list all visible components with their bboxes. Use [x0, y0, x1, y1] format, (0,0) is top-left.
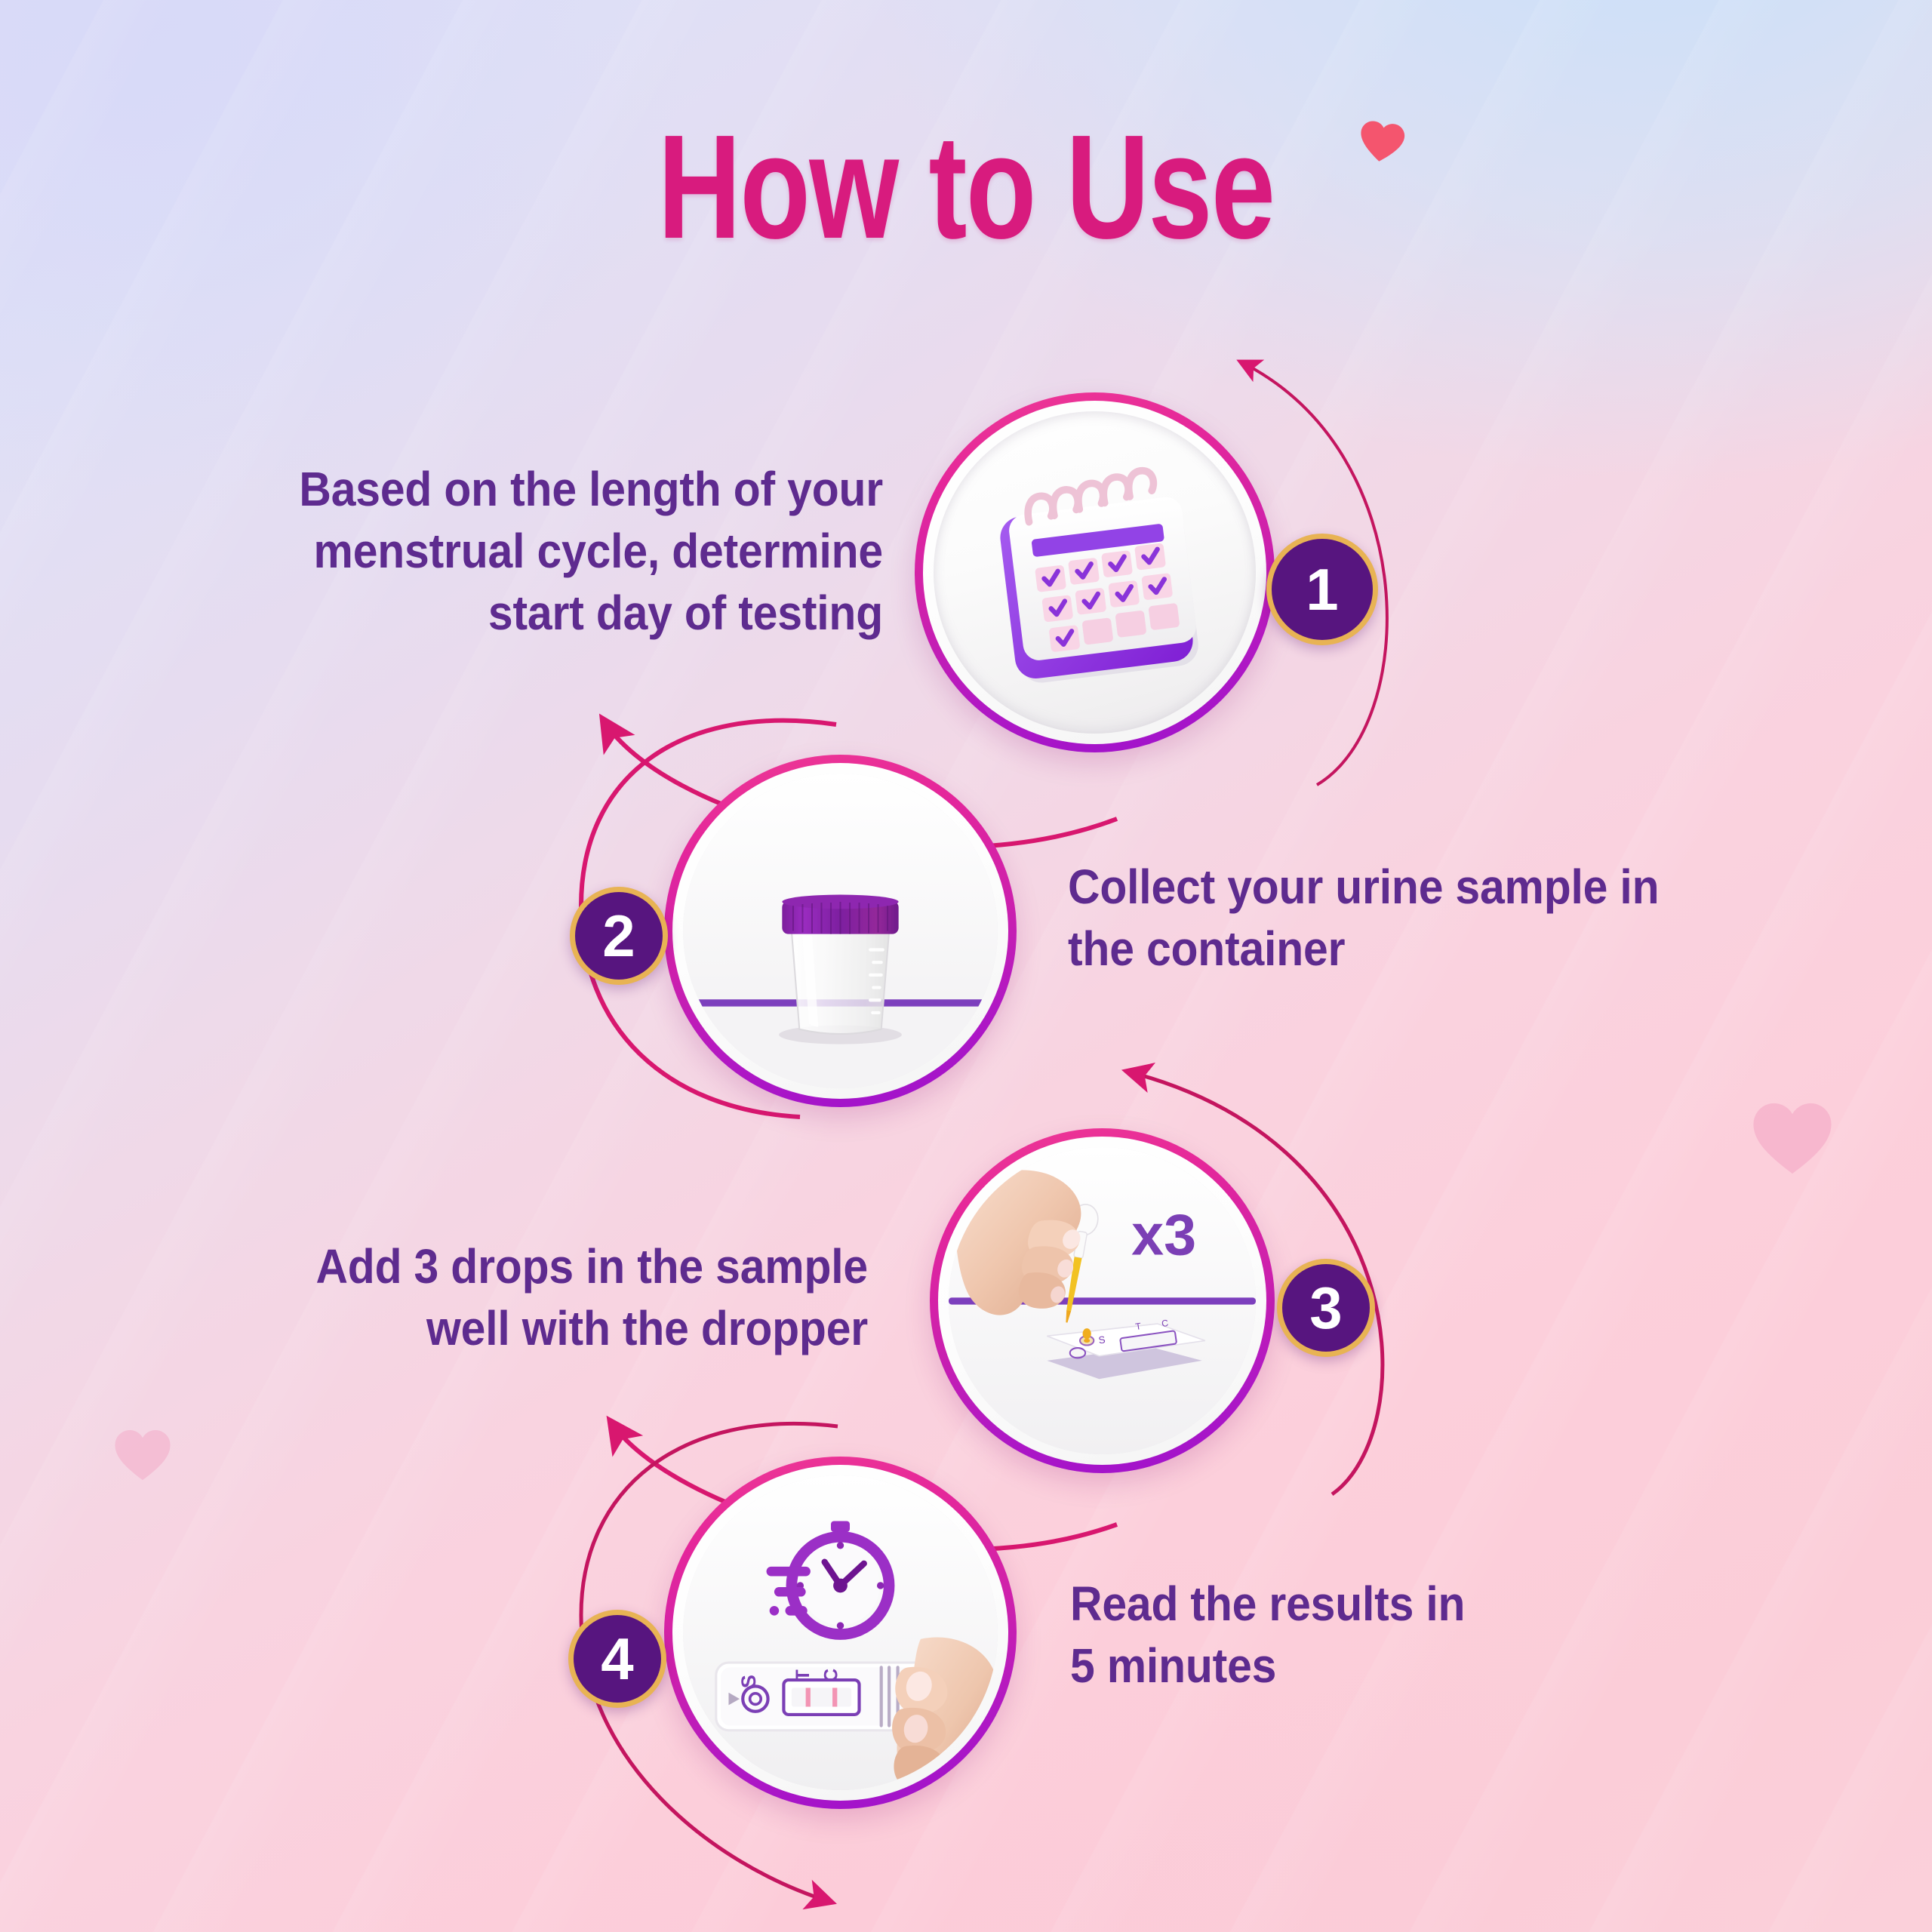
cassette-label-c: C — [820, 1669, 841, 1682]
page-title: How to Use — [213, 113, 1720, 261]
step-3-badge: 3 — [1277, 1259, 1375, 1357]
step-2-circle — [664, 755, 1017, 1107]
step-2-number: 2 — [602, 906, 635, 965]
step-1-number: 1 — [1306, 560, 1338, 619]
step-1-text: Based on the length of your menstrual cy… — [128, 459, 883, 645]
urine-container-icon — [683, 774, 998, 1088]
step-4-text: Read the results in 5 minutes — [1070, 1574, 1855, 1697]
step-1-badge: 1 — [1266, 534, 1378, 645]
cassette-label-t: T — [792, 1669, 814, 1681]
step-4-circle: S T C — [664, 1457, 1017, 1809]
step-3-text: Add 3 drops in the sample well with the … — [68, 1236, 868, 1360]
calendar-icon — [934, 411, 1256, 734]
content-layer: How to Use — [0, 0, 1932, 1932]
heart-icon — [1355, 116, 1407, 166]
step-2-badge: 2 — [570, 887, 668, 985]
step-1-circle — [915, 392, 1275, 752]
stopwatch-cassette-icon: S T C — [683, 1475, 998, 1790]
infographic-page: How to Use — [0, 0, 1932, 1932]
multiplier-label: x3 — [1131, 1202, 1196, 1267]
step-3-number: 3 — [1309, 1278, 1342, 1337]
step-3-circle: S T C — [930, 1128, 1275, 1473]
step-4-number: 4 — [601, 1629, 633, 1688]
dropper-hand-icon: S T C — [949, 1147, 1256, 1454]
cassette-label-s: S — [737, 1675, 760, 1688]
step-2-text: Collect your urine sample in the contain… — [1068, 857, 1853, 980]
step-4-badge: 4 — [568, 1610, 666, 1708]
